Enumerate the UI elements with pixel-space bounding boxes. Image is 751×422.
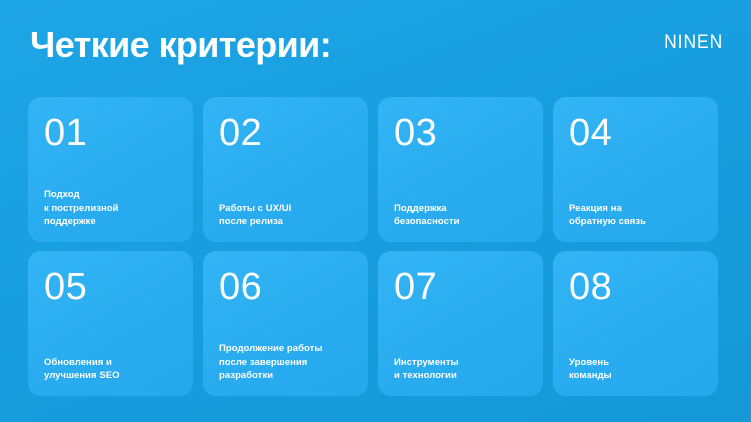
slide-header: Четкие критерии: NINEN bbox=[0, 0, 751, 90]
card-number: 06 bbox=[219, 266, 352, 308]
card-label: Продолжение работы после завершения разр… bbox=[219, 342, 356, 382]
card-number: 08 bbox=[569, 266, 702, 308]
criteria-card-02[interactable]: 02 Работы с UX/UI после релиза bbox=[203, 97, 368, 242]
criteria-card-04[interactable]: 04 Реакция на обратную связь bbox=[553, 97, 718, 242]
card-label: Обновления и улучшения SEO bbox=[44, 356, 181, 382]
card-number: 07 bbox=[394, 266, 527, 308]
criteria-card-grid: 01 Подход к пострелизной поддержке 02 Ра… bbox=[28, 97, 724, 396]
criteria-card-01[interactable]: 01 Подход к пострелизной поддержке bbox=[28, 97, 193, 242]
card-number: 04 bbox=[569, 112, 702, 154]
brand-logo: NINEN bbox=[664, 32, 723, 54]
card-number: 02 bbox=[219, 112, 352, 154]
card-label: Реакция на обратную связь bbox=[569, 202, 706, 228]
card-label: Поддержка безопасности bbox=[394, 202, 531, 228]
card-label: Работы с UX/UI после релиза bbox=[219, 202, 356, 228]
card-label: Уровень команды bbox=[569, 356, 706, 382]
criteria-card-05[interactable]: 05 Обновления и улучшения SEO bbox=[28, 251, 193, 396]
card-number: 05 bbox=[44, 266, 177, 308]
criteria-card-03[interactable]: 03 Поддержка безопасности bbox=[378, 97, 543, 242]
criteria-card-06[interactable]: 06 Продолжение работы после завершения р… bbox=[203, 251, 368, 396]
card-number: 03 bbox=[394, 112, 527, 154]
card-label: Подход к пострелизной поддержке bbox=[44, 188, 181, 228]
card-label: Инструменты и технологии bbox=[394, 356, 531, 382]
page-title: Четкие критерии: bbox=[30, 22, 331, 68]
card-number: 01 bbox=[44, 112, 177, 154]
criteria-card-07[interactable]: 07 Инструменты и технологии bbox=[378, 251, 543, 396]
criteria-card-08[interactable]: 08 Уровень команды bbox=[553, 251, 718, 396]
